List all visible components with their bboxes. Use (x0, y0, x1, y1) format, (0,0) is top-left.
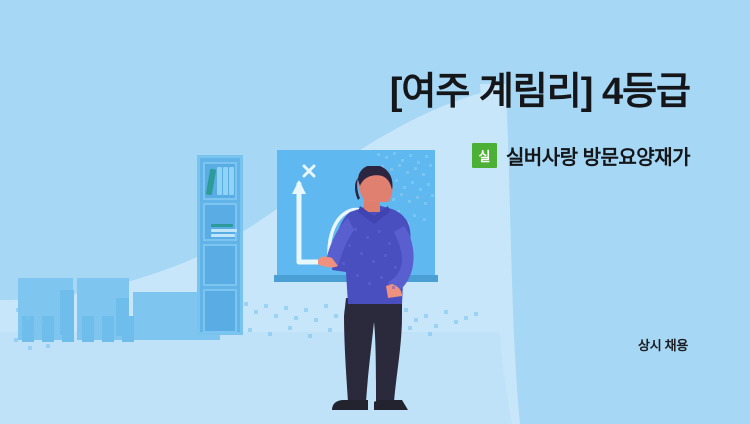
book (217, 167, 222, 195)
company-badge: 실 (472, 143, 497, 168)
book (223, 167, 228, 195)
pixel-noise-floor-left (10, 300, 270, 360)
illustration-artwork (0, 0, 520, 424)
page-title: [여주 계림리] 4등급 (390, 72, 690, 114)
banner-image: [여주 계림리] 4등급 실 실버사랑 방문요양재가 상시 채용 (0, 0, 750, 424)
hiring-status-text: 상시 채용 (638, 335, 688, 354)
paper-stack (211, 229, 237, 232)
company-name: 실버사랑 방문요양재가 (506, 141, 690, 170)
bookshelf-row (203, 203, 237, 241)
book (206, 169, 216, 196)
floor-shape (0, 0, 520, 424)
company-line: 실 실버사랑 방문요양재가 (472, 141, 690, 170)
paper-stack (211, 234, 235, 237)
paper-stack (211, 224, 233, 227)
book (229, 167, 234, 195)
bookshelf-row (203, 244, 237, 286)
bookshelf-row (203, 162, 237, 200)
person-illustration (318, 166, 428, 414)
